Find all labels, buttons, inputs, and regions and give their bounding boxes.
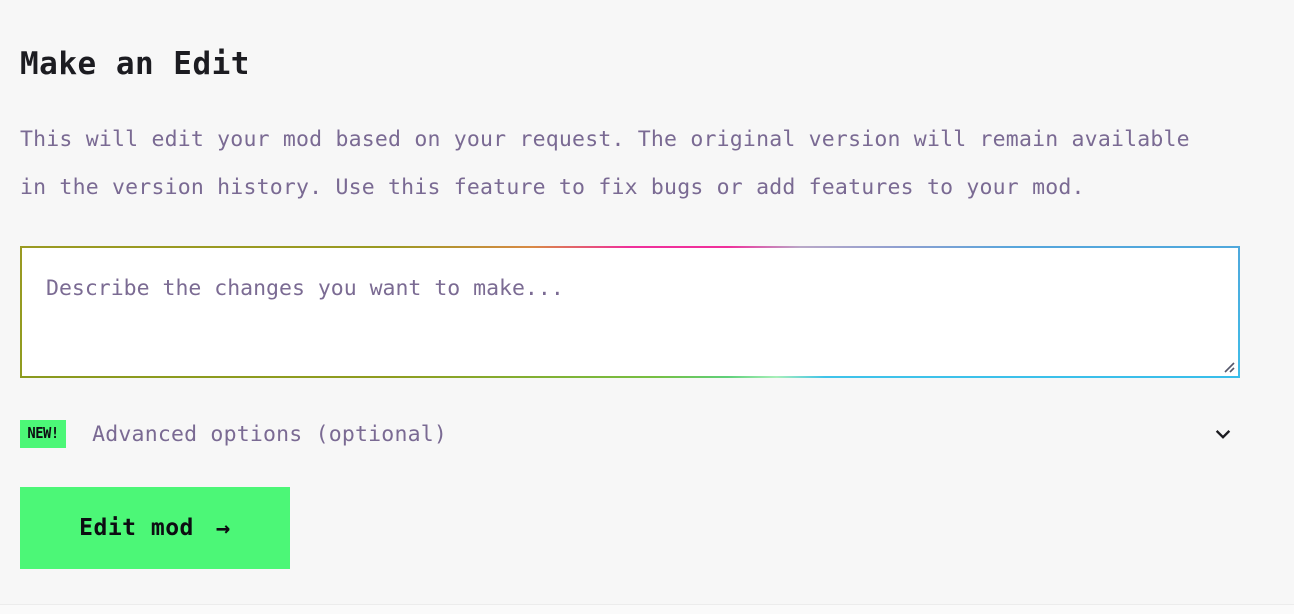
bottom-strip xyxy=(0,605,1294,614)
advanced-options-toggle[interactable]: NEW! Advanced options (optional) xyxy=(20,414,1240,454)
edit-request-textarea[interactable] xyxy=(22,248,1238,376)
make-an-edit-panel: Make an Edit This will edit your mod bas… xyxy=(0,0,1294,614)
chevron-down-icon[interactable] xyxy=(1206,417,1240,451)
page-description: This will edit your mod based on your re… xyxy=(20,116,1220,212)
edit-request-field-wrapper xyxy=(20,246,1240,378)
advanced-options-label: Advanced options (optional) xyxy=(92,422,447,447)
edit-mod-button-label: Edit mod xyxy=(79,515,194,541)
arrow-right-icon: → xyxy=(216,516,231,540)
edit-mod-button[interactable]: Edit mod → xyxy=(20,487,290,569)
new-badge: NEW! xyxy=(20,420,66,448)
bottom-divider xyxy=(0,604,1294,605)
page-title: Make an Edit xyxy=(20,43,250,85)
